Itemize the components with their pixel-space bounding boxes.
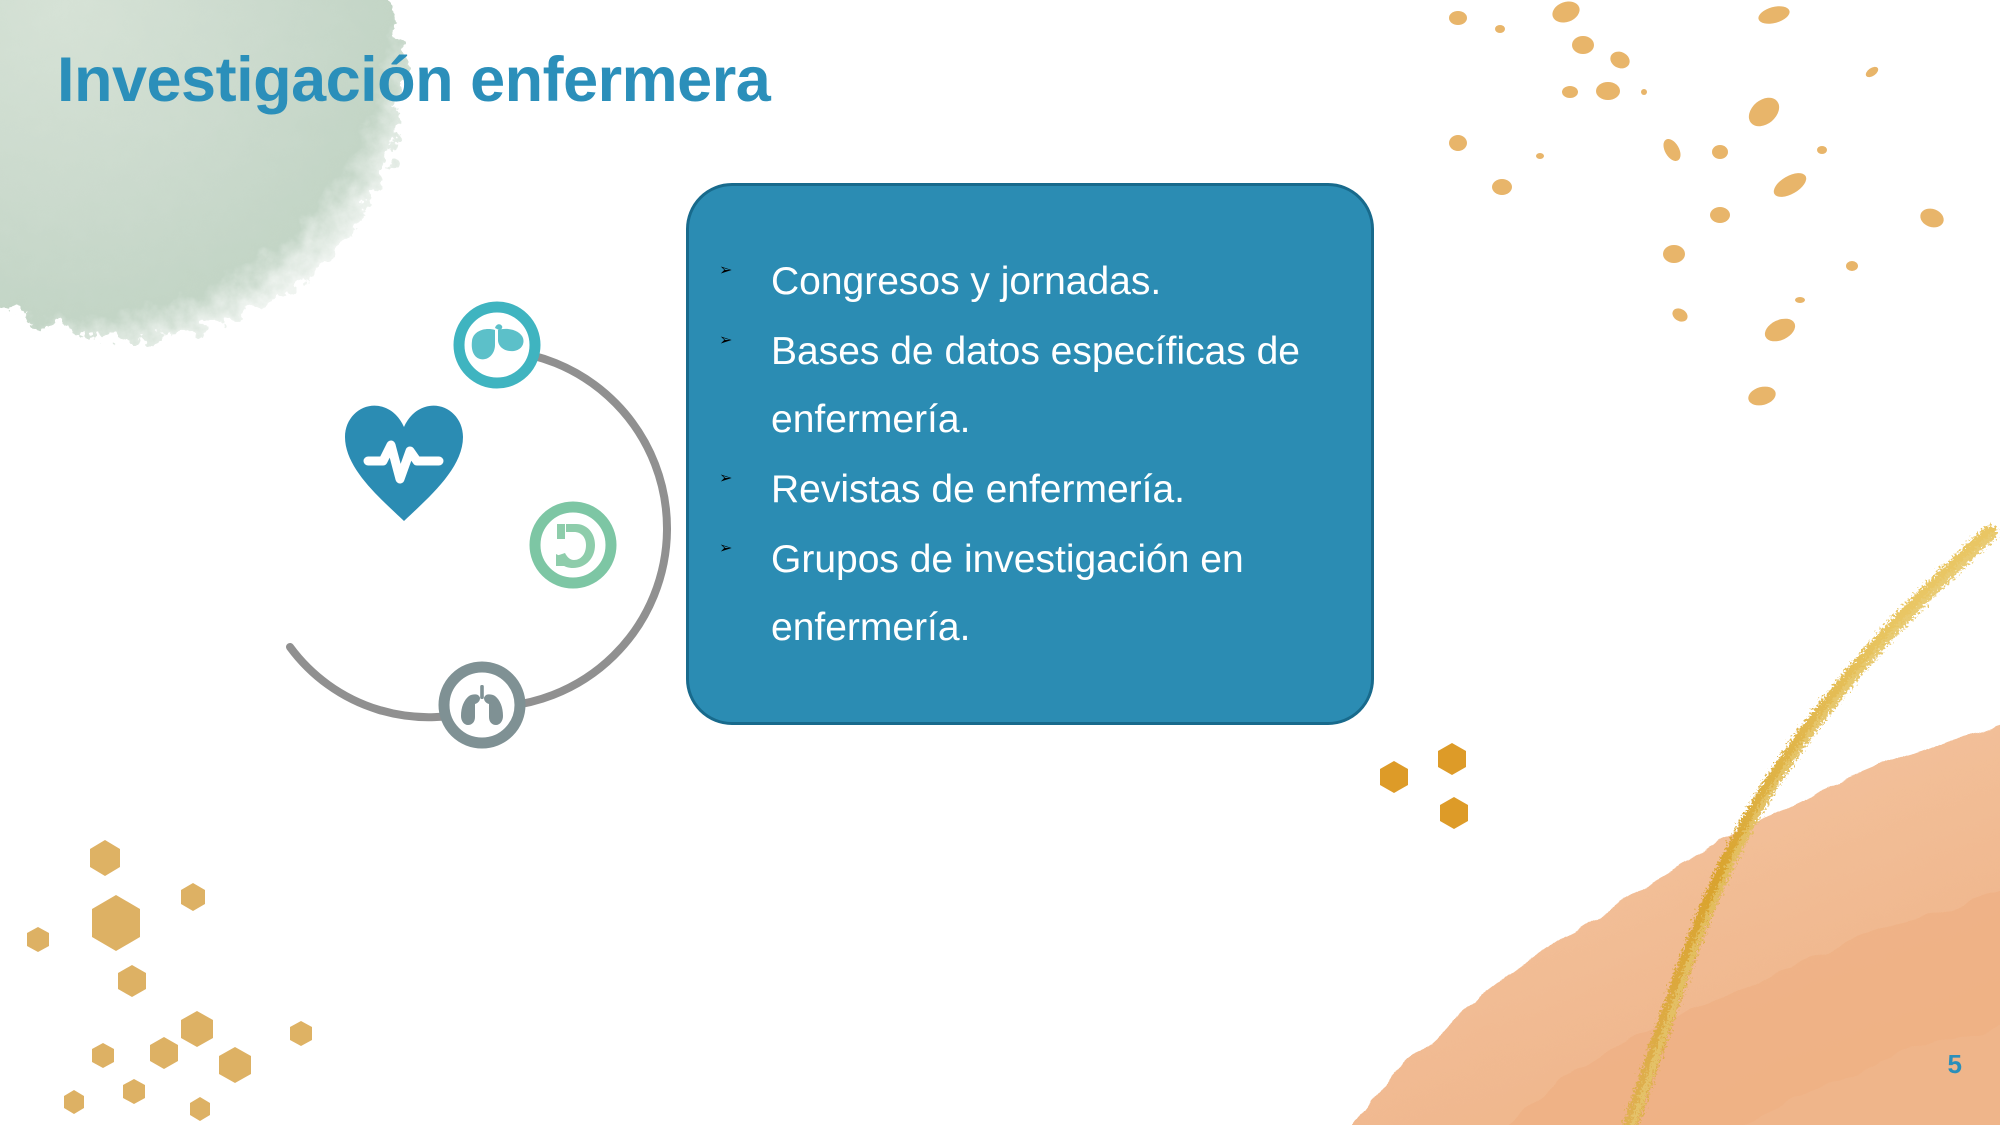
liver-node [454, 302, 540, 388]
slide-canvas: Investigación enfermera [0, 0, 2000, 1125]
list-item-label: Bases de datos específicas de enfermería… [771, 318, 1347, 454]
list-item-label: Grupos de investigación en enfermería. [771, 526, 1347, 662]
list-item: ➢ Grupos de investigación en enfermería. [719, 526, 1347, 662]
chevron-bullet-icon: ➢ [719, 526, 771, 558]
list-item: ➢ Congresos y jornadas. [719, 248, 1347, 316]
bullet-list: ➢ Congresos y jornadas. ➢ Bases de datos… [719, 248, 1347, 664]
lungs-node [439, 662, 525, 748]
list-item-label: Congresos y jornadas. [771, 248, 1347, 316]
gold-hexagon-confetti-mid-right [1340, 695, 1560, 895]
page-title: Investigación enfermera [57, 44, 770, 116]
content-panel: ➢ Congresos y jornadas. ➢ Bases de datos… [686, 183, 1374, 725]
chevron-bullet-icon: ➢ [719, 318, 771, 350]
peach-watercolor-wash [1270, 505, 2000, 1125]
page-number: 5 [1948, 1049, 1962, 1080]
chevron-bullet-icon: ➢ [719, 248, 771, 280]
heart-pulse-icon [345, 406, 463, 521]
organ-circle-diagram [205, 255, 685, 765]
list-item-label: Revistas de enfermería. [771, 456, 1347, 524]
gold-confetti-top-right [1380, 0, 2000, 420]
list-item: ➢ Bases de datos específicas de enfermer… [719, 318, 1347, 454]
gold-hexagon-confetti-bottom-left [0, 825, 420, 1125]
chevron-bullet-icon: ➢ [719, 456, 771, 488]
list-item: ➢ Revistas de enfermería. [719, 456, 1347, 524]
gold-glitter-streak [1370, 455, 2000, 1125]
stomach-node [530, 502, 616, 588]
